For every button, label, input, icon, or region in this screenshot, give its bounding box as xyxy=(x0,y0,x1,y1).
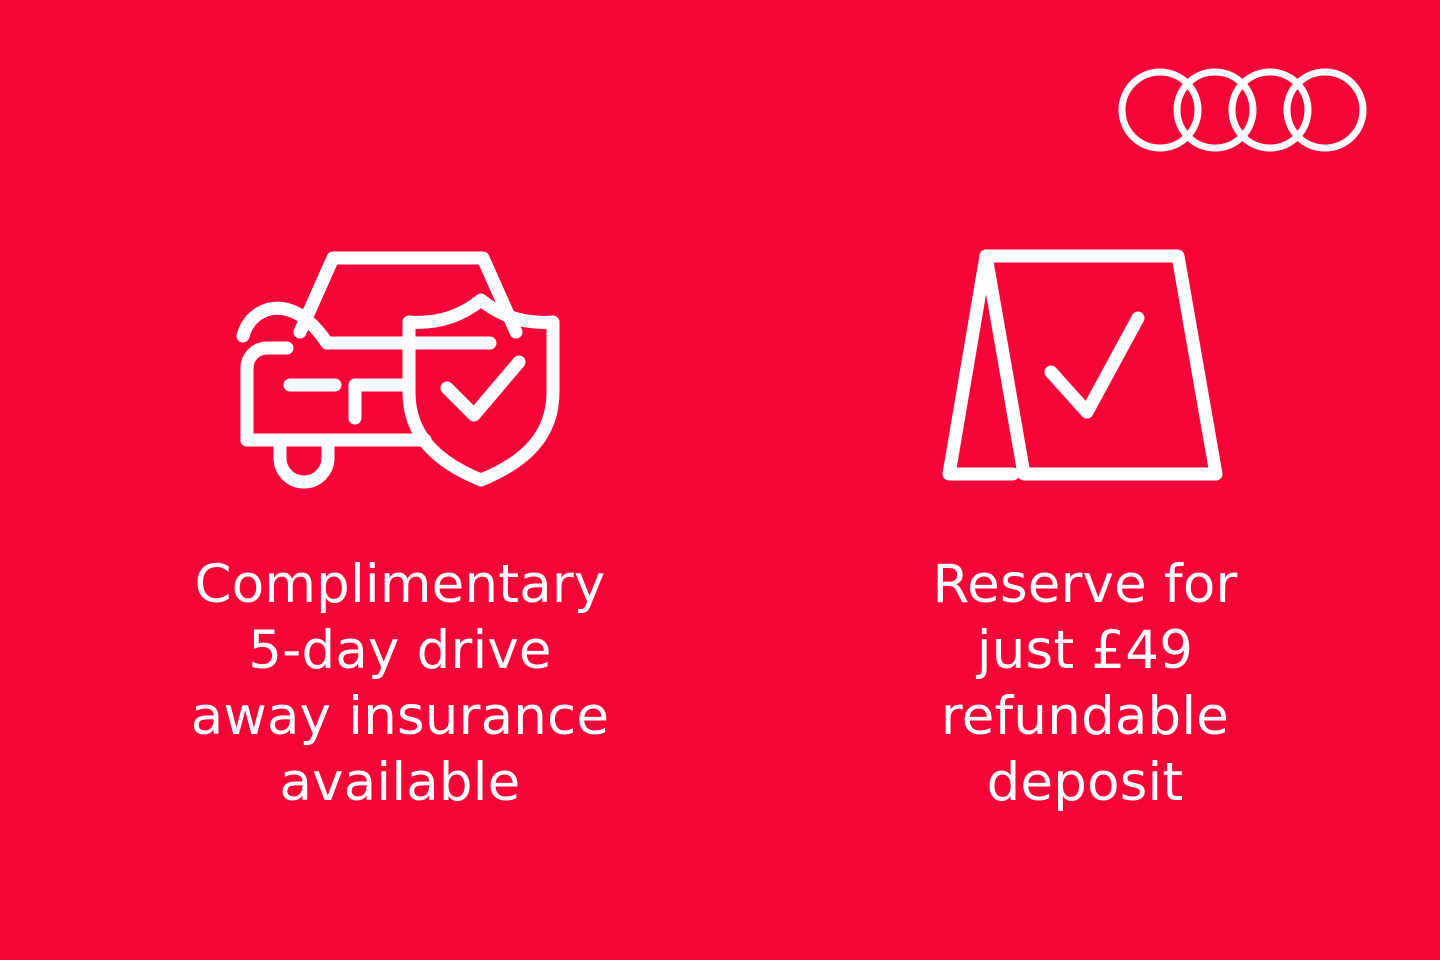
car-shield-icon-wrap xyxy=(235,240,565,490)
folded-card-check-icon xyxy=(935,240,1235,490)
promo-banner: Complimentary 5-day drive away insurance… xyxy=(0,0,1440,960)
feature-refundable-deposit: Reserve for just £49 refundable deposit xyxy=(830,240,1340,816)
feature-list: Complimentary 5-day drive away insurance… xyxy=(0,0,1440,960)
folded-card-check-icon-wrap xyxy=(935,240,1235,490)
feature-drive-away-insurance: Complimentary 5-day drive away insurance… xyxy=(130,240,670,816)
feature-caption-drive-away-insurance: Complimentary 5-day drive away insurance… xyxy=(191,552,609,816)
feature-caption-refundable-deposit: Reserve for just £49 refundable deposit xyxy=(933,552,1238,816)
car-shield-icon xyxy=(235,240,565,490)
